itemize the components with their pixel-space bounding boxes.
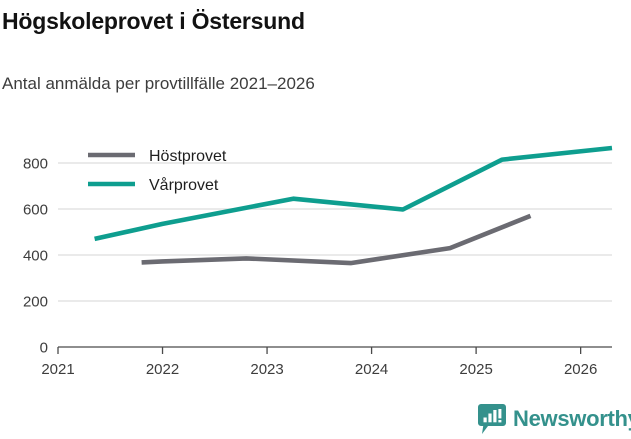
legend-label-vårprovet[interactable]: Vårprovet <box>149 176 219 194</box>
x-axis-tick-labels: 202120222023202420252026 <box>41 361 597 378</box>
line-chart-plot: 0200400600800 202120222023202420252026 H… <box>0 0 631 400</box>
gridlines <box>58 163 612 301</box>
newsworthy-logo: Newsworthy <box>478 404 631 434</box>
y-axis-tick-label: 0 <box>40 340 48 357</box>
chart-legend: HöstprovetVårprovet <box>88 148 227 194</box>
series-line-höstprovet <box>142 216 531 263</box>
x-axis-tick-label: 2025 <box>459 361 492 378</box>
data-series <box>95 148 612 263</box>
x-axis-tick-label: 2023 <box>250 361 283 378</box>
chart-page: Högskoleprovet i Östersund Antal anmälda… <box>0 0 631 439</box>
x-axis-tick-label: 2021 <box>41 361 74 378</box>
y-axis-tick-label: 800 <box>23 156 48 173</box>
y-axis-tick-labels: 0200400600800 <box>23 156 48 357</box>
y-axis-tick-label: 200 <box>23 294 48 311</box>
x-axis-tick-label: 2022 <box>146 361 179 378</box>
speech-bubble-bar-chart-icon <box>478 404 506 434</box>
x-axis-tick-label: 2024 <box>355 361 388 378</box>
legend-label-höstprovet[interactable]: Höstprovet <box>149 148 227 165</box>
x-axis-tick-label: 2026 <box>564 361 597 378</box>
y-axis-tick-label: 600 <box>23 202 48 219</box>
brand-wordmark: Newsworthy <box>513 408 631 430</box>
y-axis-tick-label: 400 <box>23 248 48 265</box>
x-axis <box>58 347 612 354</box>
